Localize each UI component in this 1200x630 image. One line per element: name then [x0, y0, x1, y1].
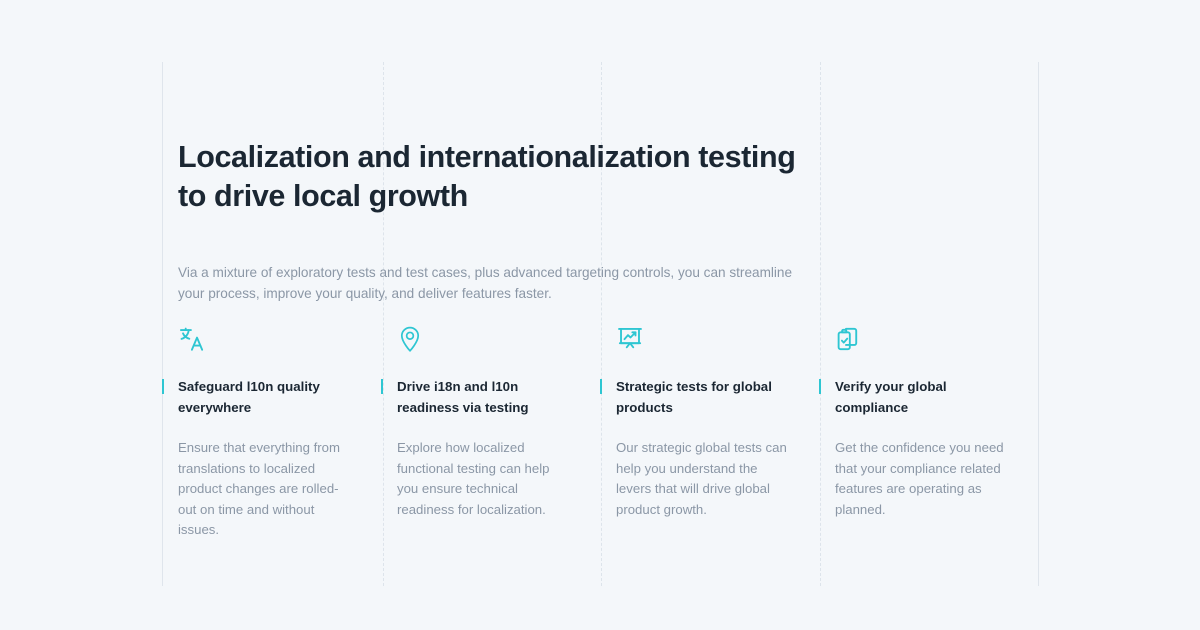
- feature-body-1: Ensure that everything from translations…: [178, 438, 351, 541]
- feature-body-4: Get the confidence you need that your co…: [835, 438, 1008, 520]
- feature-title-row-3: Strategic tests for global products: [616, 377, 789, 418]
- accent-bar-icon: [162, 379, 164, 394]
- translate-icon: [178, 325, 351, 355]
- feature-column-4: Verify your global compliance Get the co…: [819, 325, 1038, 541]
- feature-title-row-1: Safeguard l10n quality everywhere: [178, 377, 351, 418]
- feature-title-3: Strategic tests for global products: [616, 377, 789, 418]
- feature-title-row-2: Drive i18n and l10n readiness via testin…: [397, 377, 570, 418]
- page-subtitle: Via a mixture of exploratory tests and t…: [178, 262, 810, 304]
- feature-column-2: Drive i18n and l10n readiness via testin…: [381, 325, 600, 541]
- hero-section: Localization and internationalization te…: [178, 62, 1023, 304]
- feature-body-3: Our strategic global tests can help you …: [616, 438, 789, 520]
- feature-body-2: Explore how localized functional testing…: [397, 438, 570, 520]
- map-pin-icon: [397, 325, 570, 355]
- presentation-chart-icon: [616, 325, 789, 355]
- feature-columns: Safeguard l10n quality everywhere Ensure…: [162, 325, 1039, 541]
- feature-column-3: Strategic tests for global products Our …: [600, 325, 819, 541]
- feature-title-1: Safeguard l10n quality everywhere: [178, 377, 351, 418]
- accent-bar-icon: [819, 379, 821, 394]
- feature-title-2: Drive i18n and l10n readiness via testin…: [397, 377, 570, 418]
- clipboard-check-icon: [835, 325, 1008, 355]
- feature-column-1: Safeguard l10n quality everywhere Ensure…: [162, 325, 381, 541]
- accent-bar-icon: [381, 379, 383, 394]
- feature-title-4: Verify your global compliance: [835, 377, 1008, 418]
- page-title: Localization and internationalization te…: [178, 138, 818, 216]
- accent-bar-icon: [600, 379, 602, 394]
- feature-title-row-4: Verify your global compliance: [835, 377, 1008, 418]
